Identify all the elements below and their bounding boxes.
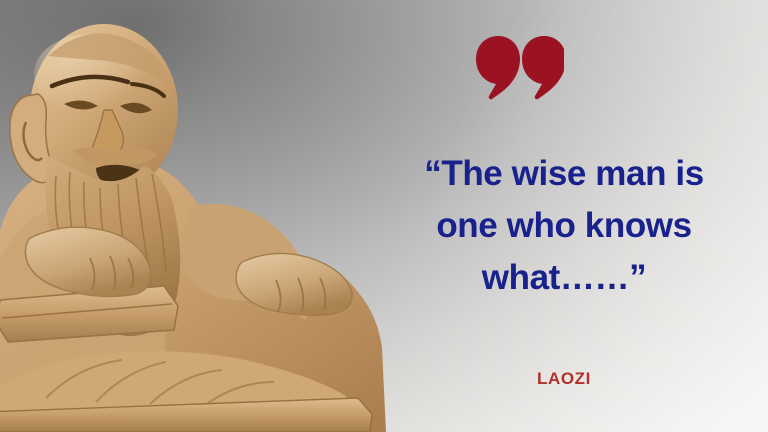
laozi-statue-image: [0, 0, 406, 432]
quote-attribution: LAOZI: [384, 369, 744, 389]
quote-card: “The wise man is one who knows what……” L…: [0, 0, 768, 432]
quote-line-2: one who knows: [384, 200, 744, 252]
quotation-mark-icon: [474, 34, 564, 106]
quote-line-3: what……”: [384, 252, 744, 304]
quote-text: “The wise man is one who knows what……”: [384, 148, 744, 304]
quote-line-1: “The wise man is: [384, 148, 744, 200]
